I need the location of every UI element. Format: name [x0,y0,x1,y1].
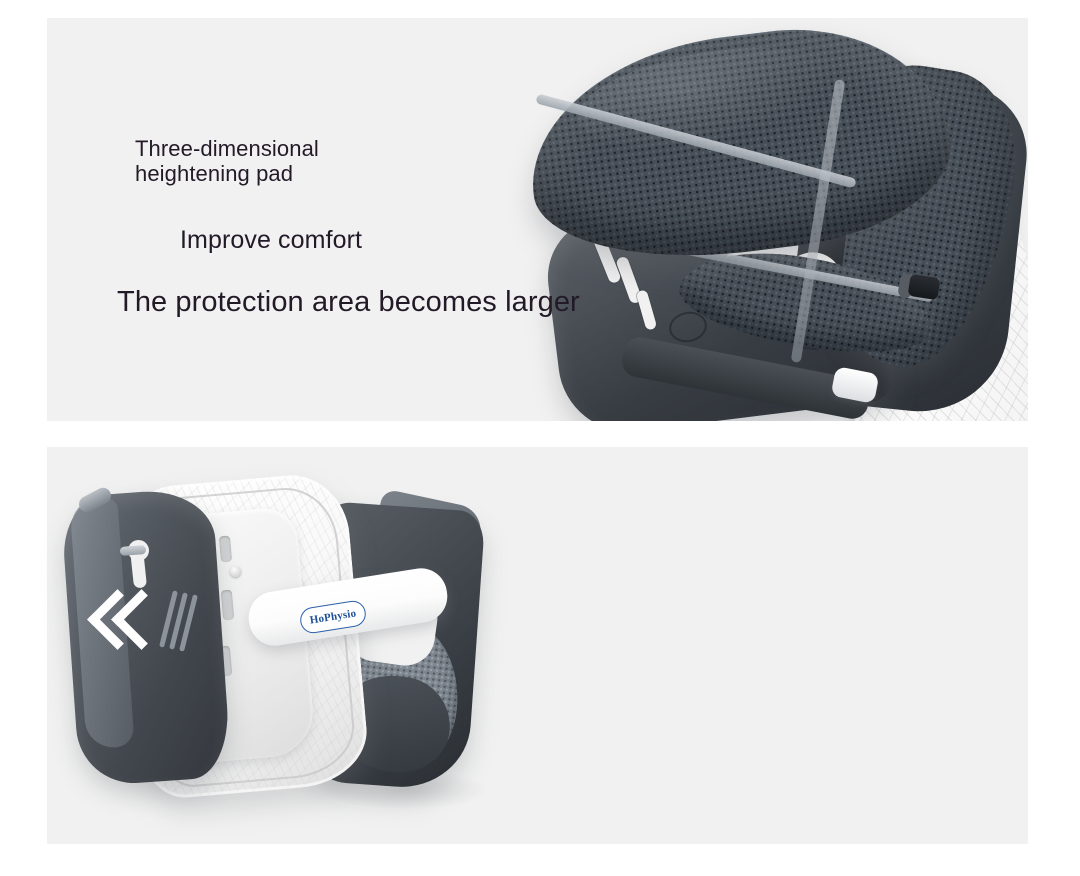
product-image-collar-exploded [70,470,500,830]
feature-subtitle-improve-comfort: Improve comfort [180,226,362,255]
rivet [230,566,241,577]
feature-tagline-protection-area: The protection area becomes larger [117,286,580,319]
feature-label-heightening-pad: Three-dimensional heightening pad [135,136,319,186]
hinge-peg [907,274,940,300]
feature-panel-heightening-pad: Three-dimensional heightening pad Improv… [47,18,1028,421]
vent-hole [219,536,232,563]
brand-logo-text: HoPhysio [309,608,357,626]
product-image-collar-closeup [517,18,1028,421]
product-feature-page: Three-dimensional heightening pad Improv… [0,0,1080,876]
adjustment-pin [120,545,147,556]
